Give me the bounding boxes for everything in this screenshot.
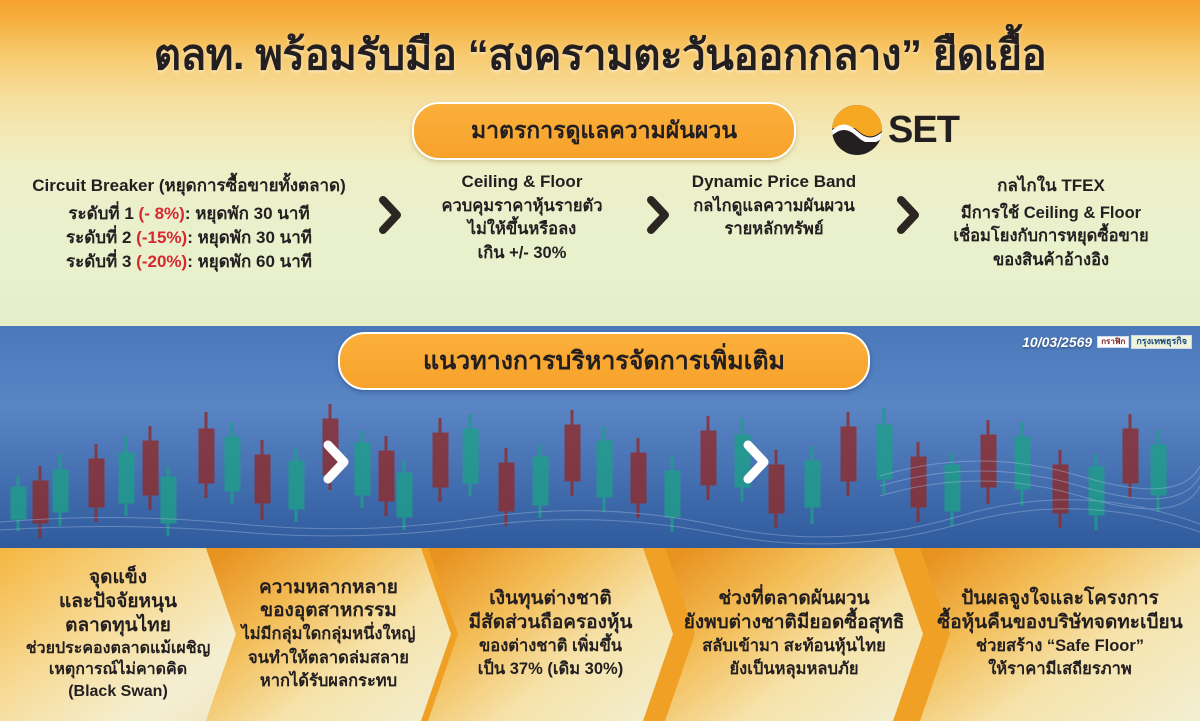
level-rest: : หยุดพัก 30 นาที: [185, 204, 310, 223]
level-rest: : หยุดพัก 60 นาที: [187, 252, 312, 271]
measure-line: กลไกดูแลความผันผวน: [662, 195, 886, 218]
measure-title: Circuit Breaker (หยุดการซื้อขายทั้งตลาด): [8, 172, 370, 199]
middle-pill-label: แนวทางการบริหารจัดการเพิ่มเติม: [338, 332, 870, 390]
panel-title-line: ช่วงที่ตลาดผันผวน: [684, 587, 905, 611]
panel-body-line: เหตุการณ์ไม่คาดคิด: [26, 659, 210, 681]
level-pct: (-20%): [136, 252, 187, 271]
panel-body-line: ช่วยประคองตลาดแม้เผชิญ: [26, 638, 210, 660]
strength-panel-1: จุดแข็ง และปัจจัยหนุน ตลาดทุนไทย ช่วยประ…: [0, 548, 236, 721]
set-logo-mark-icon: [832, 105, 882, 155]
measure-line: รายหลักทรัพย์: [662, 218, 886, 241]
strength-panel-4: ช่วงที่ตลาดผันผวน ยังพบต่างชาติมียอดซื้อ…: [665, 548, 923, 721]
panel-title-line: มีสัดส่วนถือครองหุ้น: [469, 611, 633, 635]
strength-panel-5: ปันผลจูงใจและโครงการ ซื้อหุ้นคืนของบริษั…: [920, 548, 1200, 721]
panel-body-line: หากได้รับผลกระทบ: [242, 670, 416, 693]
panel-body-line: ไม่มีกลุ่มใดกลุ่มหนึ่งใหญ่: [242, 623, 416, 646]
panel-body-line: ยังเป็นหลุมหลบภัย: [684, 658, 905, 681]
middle-pill-text: แนวทางการบริหารจัดการเพิ่มเติม: [423, 341, 785, 381]
panel-body-line: ของต่างชาติ เพิ่มขึ้น: [469, 635, 633, 658]
measure-line: มีการใช้ Ceiling & Floor: [910, 202, 1192, 225]
date-text: 10/03/2569: [1022, 334, 1092, 350]
publisher-mark-text: กราฟิก: [1097, 336, 1129, 349]
circuit-breaker-level-2: ระดับที่ 2 (-15%): หยุดพัก 30 นาที: [8, 226, 370, 250]
panel-body-line: จนทำให้ตลาดล่มสลาย: [242, 647, 416, 670]
top-section: ตลท. พร้อมรับมือ “สงครามตะวันออกกลาง” ยื…: [0, 0, 1200, 326]
chevron-right-icon: [378, 196, 404, 234]
set-logo-wordmark: SET: [888, 111, 959, 149]
chevron-right-icon: [742, 440, 772, 484]
chevron-right-icon: [646, 196, 672, 234]
panel-title-line: จุดแข็ง: [26, 566, 210, 590]
panel-body-line: (Black Swan): [26, 681, 210, 703]
bottom-section: จุดแข็ง และปัจจัยหนุน ตลาดทุนไทย ช่วยประ…: [0, 548, 1200, 721]
level-rest: : หยุดพัก 30 นาที: [187, 228, 312, 247]
measure-ceiling-floor: Ceiling & Floor ควบคุมราคาหุ้นรายตัว ไม่…: [404, 172, 640, 265]
panel-content: เงินทุนต่างชาติ มีสัดส่วนถือครองหุ้น ของ…: [463, 587, 639, 681]
measures-pill-text: มาตรการดูแลความผันผวน: [471, 113, 737, 149]
measures-row: Circuit Breaker (หยุดการซื้อขายทั้งตลาด)…: [0, 172, 1200, 302]
set-logo: SET: [832, 102, 982, 158]
panel-body-line: ช่วยสร้าง “Safe Floor”: [937, 635, 1182, 658]
measure-tfex: กลไกใน TFEX มีการใช้ Ceiling & Floor เชื…: [910, 172, 1192, 272]
panel-title-line: ตลาดทุนไทย: [26, 614, 210, 638]
panel-title-line: และปัจจัยหนุน: [26, 590, 210, 614]
panel-body-line: ให้ราคามีเสถียรภาพ: [937, 658, 1182, 681]
publisher-logo: กราฟิก กรุงเทพธุรกิจ: [1097, 335, 1192, 349]
measure-dynamic-price-band: Dynamic Price Band กลไกดูแลความผันผวน รา…: [662, 172, 886, 242]
measure-line: เกิน +/- 30%: [404, 242, 640, 265]
panel-content: ความหลากหลาย ของอุตสาหกรรม ไม่มีกลุ่มใดก…: [236, 576, 422, 694]
measure-line: ควบคุมราคาหุ้นรายตัว: [404, 195, 640, 218]
chevron-right-icon: [896, 196, 922, 234]
measure-line: ไม่ให้ขึ้นหรือลง: [404, 218, 640, 241]
circuit-breaker-level-3: ระดับที่ 3 (-20%): หยุดพัก 60 นาที: [8, 250, 370, 274]
measure-line: ของสินค้าอ้างอิง: [910, 249, 1192, 272]
measure-title: Dynamic Price Band: [662, 172, 886, 192]
strength-panel-2: ความหลากหลาย ของอุตสาหกรรม ไม่มีกลุ่มใดก…: [206, 548, 451, 721]
level-label: ระดับที่ 1: [68, 204, 138, 223]
level-label: ระดับที่ 3: [66, 252, 136, 271]
panel-title-line: ความหลากหลาย: [242, 576, 416, 600]
circuit-breaker-level-1: ระดับที่ 1 (- 8%): หยุดพัก 30 นาที: [8, 202, 370, 226]
publisher-name-text: กรุงเทพธุรกิจ: [1131, 335, 1192, 349]
set-logo-wave-icon: [832, 120, 882, 142]
measure-title: กลไกใน TFEX: [910, 172, 1192, 199]
level-pct: (-15%): [136, 228, 187, 247]
level-label: ระดับที่ 2: [66, 228, 136, 247]
panel-content: ปันผลจูงใจและโครงการ ซื้อหุ้นคืนของบริษั…: [931, 587, 1188, 681]
panel-title-line: ซื้อหุ้นคืนของบริษัทจดทะเบียน: [937, 611, 1182, 635]
measure-title: Ceiling & Floor: [404, 172, 640, 192]
measure-line: เชื่อมโยงกับการหยุดซื้อขาย: [910, 225, 1192, 248]
panel-body-line: เป็น 37% (เดิม 30%): [469, 658, 633, 681]
panel-title-line: เงินทุนต่างชาติ: [469, 587, 633, 611]
chevron-right-icon: [322, 440, 352, 484]
strength-panel-3: เงินทุนต่างชาติ มีสัดส่วนถือครองหุ้น ของ…: [428, 548, 673, 721]
measure-circuit-breaker: Circuit Breaker (หยุดการซื้อขายทั้งตลาด)…: [8, 172, 370, 274]
date-stamp: 10/03/2569 กราฟิก กรุงเทพธุรกิจ: [1022, 334, 1192, 350]
measures-pill-label: มาตรการดูแลความผันผวน: [412, 102, 796, 160]
panel-content: จุดแข็ง และปัจจัยหนุน ตลาดทุนไทย ช่วยประ…: [20, 566, 216, 702]
panel-title-line: ยังพบต่างชาติมียอดซื้อสุทธิ: [684, 611, 905, 635]
level-pct: (- 8%): [139, 204, 185, 223]
infographic-root: ตลท. พร้อมรับมือ “สงครามตะวันออกกลาง” ยื…: [0, 0, 1200, 721]
panel-title-line: ของอุตสาหกรรม: [242, 599, 416, 623]
panel-content: ช่วงที่ตลาดผันผวน ยังพบต่างชาติมียอดซื้อ…: [678, 587, 911, 681]
panel-title-line: ปันผลจูงใจและโครงการ: [937, 587, 1182, 611]
page-title: ตลท. พร้อมรับมือ “สงครามตะวันออกกลาง” ยื…: [0, 22, 1200, 88]
panel-body-line: สลับเข้ามา สะท้อนหุ้นไทย: [684, 635, 905, 658]
